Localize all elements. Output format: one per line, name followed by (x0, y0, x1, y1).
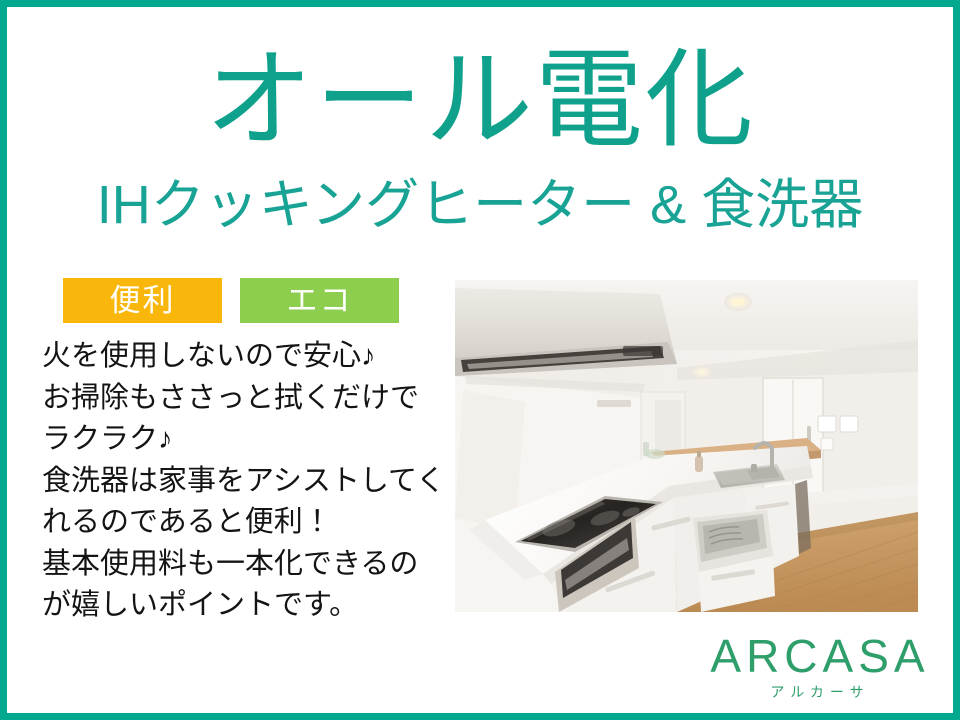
frame-border-bottom (0, 713, 960, 720)
description-line: 食洗器は家事をアシストしてく (42, 461, 442, 503)
frame-border-left (0, 0, 7, 720)
company-logo: ARCASA アルカーサ (700, 632, 940, 701)
badge-eco: エコ (240, 278, 399, 323)
advertisement-slide: オール電化 IHクッキングヒーター & 食洗器 便利 エコ 火を使用しないので安… (0, 0, 960, 720)
description-line: が嬉しいポイントです。 (42, 585, 442, 627)
description-line: 火を使用しないので安心♪ (42, 336, 442, 378)
frame-border-right (953, 0, 960, 720)
badge-convenient: 便利 (63, 278, 222, 323)
kitchen-photo (455, 280, 918, 612)
logo-wordmark: ARCASA (700, 632, 940, 680)
logo-kana-subtext: アルカーサ (700, 683, 940, 701)
description-line: お掃除もささっと拭くだけで (42, 378, 442, 420)
badge-convenient-label: 便利 (110, 285, 176, 316)
feature-badges: 便利 エコ (63, 278, 399, 323)
badge-eco-label: エコ (287, 285, 353, 316)
description-line: れるのであると便利！ (42, 502, 442, 544)
description-text: 火を使用しないので安心♪ お掃除もささっと拭くだけで ラクラク♪ 食洗器は家事を… (42, 336, 442, 627)
page-subtitle: IHクッキングヒーター & 食洗器 (0, 176, 960, 235)
description-line: 基本使用料も一本化できるの (42, 544, 442, 586)
page-title: オール電化 (0, 42, 960, 159)
kitchen-photo-illustration (455, 280, 918, 612)
frame-border-top (0, 0, 960, 7)
description-line: ラクラク♪ (42, 419, 442, 461)
